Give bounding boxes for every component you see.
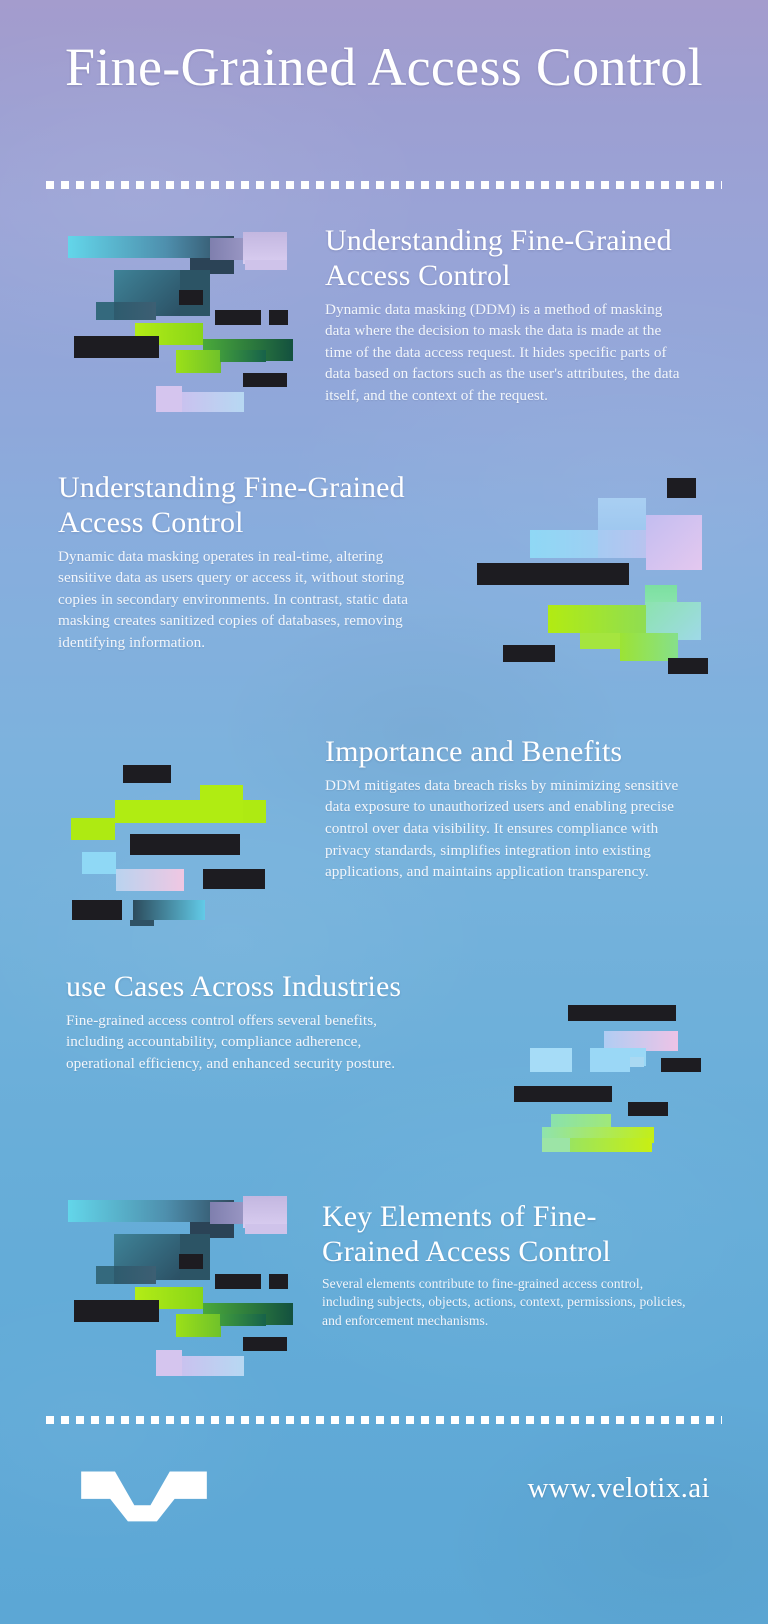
section-1-heading: Understanding Fine-Grained Access Contro… <box>325 224 683 294</box>
section-5-body: Several elements contribute to fine-grai… <box>322 1275 690 1331</box>
section-5-heading: Key Elements of Fine-Grained Access Cont… <box>322 1200 690 1270</box>
section-3-heading: Importance and Benefits <box>325 735 697 770</box>
section-1-body: Dynamic data masking (DDM) is a method o… <box>325 299 683 407</box>
website-url[interactable]: www.velotix.ai <box>527 1472 710 1505</box>
divider-bottom <box>46 1416 722 1424</box>
masked-data-graphic-1 <box>60 226 310 412</box>
section-2-text: Understanding Fine-Grained Access Contro… <box>58 471 430 653</box>
masked-data-graphic-5 <box>60 1190 310 1376</box>
section-1-text: Understanding Fine-Grained Access Contro… <box>325 224 683 406</box>
masked-data-graphic-2 <box>455 450 710 680</box>
masked-data-graphic-3 <box>60 730 310 926</box>
section-5-text: Key Elements of Fine-Grained Access Cont… <box>322 1200 690 1331</box>
section-2-heading: Understanding Fine-Grained Access Contro… <box>58 471 430 541</box>
page-title: Fine-Grained Access Control <box>48 36 720 100</box>
section-2-body: Dynamic data masking operates in real-ti… <box>58 546 430 654</box>
section-3-body: DDM mitigates data breach risks by minim… <box>325 775 697 883</box>
velotix-logo-icon <box>66 1465 222 1523</box>
masked-data-graphic-4 <box>480 960 710 1152</box>
section-4-body: Fine-grained access control offers sever… <box>66 1010 426 1075</box>
section-4-text: use Cases Across Industries Fine-grained… <box>66 970 426 1075</box>
infographic-poster: Fine-Grained Access Control Understandin… <box>0 0 768 1624</box>
section-4-heading: use Cases Across Industries <box>66 970 426 1005</box>
divider-top <box>46 181 722 189</box>
section-3-text: Importance and Benefits DDM mitigates da… <box>325 735 697 883</box>
